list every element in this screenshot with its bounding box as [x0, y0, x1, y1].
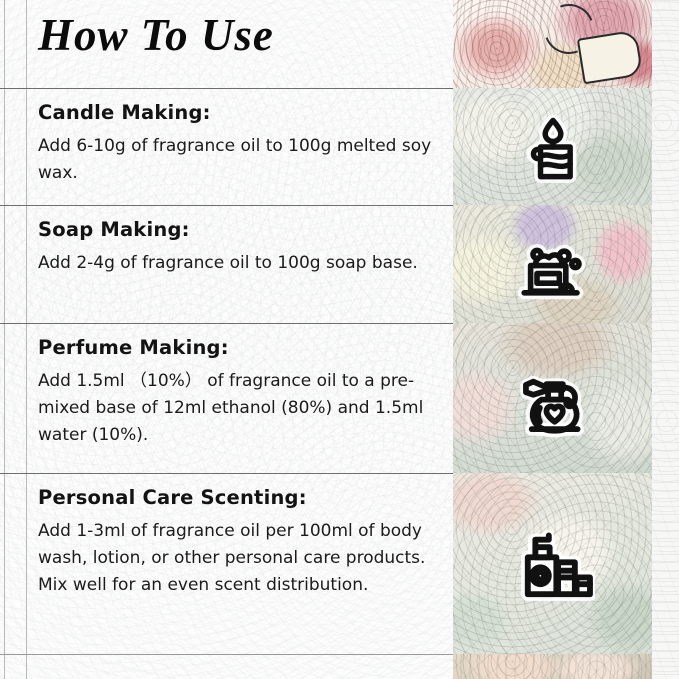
- vertical-rule-outer: [4, 0, 5, 679]
- section-body-perfume: Add 1.5ml （10%） of fragrance oil to a pr…: [38, 368, 438, 449]
- section-perfume-making: Perfume Making: Add 1.5ml （10%） of fragr…: [38, 336, 438, 449]
- section-heading-candle: Candle Making:: [38, 101, 438, 124]
- soap-photo-tile: [453, 205, 652, 323]
- roses-with-hang-tag-photo: [453, 0, 652, 88]
- section-heading-personal-care: Personal Care Scenting:: [38, 486, 438, 509]
- floral-still-life-photo: [453, 654, 652, 679]
- photo-column: [453, 0, 652, 679]
- candle-icon: [510, 104, 596, 190]
- section-body-candle: Add 6-10g of fragrance oil to 100g melte…: [38, 133, 438, 187]
- page-title: How To Use: [38, 9, 274, 61]
- section-personal-care-scenting: Personal Care Scenting: Add 1-3ml of fra…: [38, 486, 438, 599]
- perfume-photo-tile: [453, 323, 652, 473]
- floral-still-life-art: [453, 654, 652, 679]
- perfume-atomizer-icon: [510, 355, 596, 441]
- section-heading-perfume: Perfume Making:: [38, 336, 438, 359]
- vertical-rule-inner: [26, 0, 27, 679]
- section-candle-making: Candle Making: Add 6-10g of fragrance oi…: [38, 101, 438, 187]
- soap-bar-icon: [510, 221, 596, 307]
- section-body-soap: Add 2-4g of fragrance oil to 100g soap b…: [38, 250, 438, 277]
- candle-photo-tile: [453, 88, 652, 205]
- section-body-personal-care: Add 1-3ml of fragrance oil per 100ml of …: [38, 518, 438, 599]
- section-soap-making: Soap Making: Add 2-4g of fragrance oil t…: [38, 218, 438, 277]
- section-heading-soap: Soap Making:: [38, 218, 438, 241]
- personal-care-bottles-icon: [510, 521, 596, 607]
- right-edge-strip: [652, 0, 679, 679]
- how-to-use-infographic: How To Use Candle Making: Add 6-10g of f…: [0, 0, 679, 679]
- personal-care-photo-tile: [453, 473, 652, 654]
